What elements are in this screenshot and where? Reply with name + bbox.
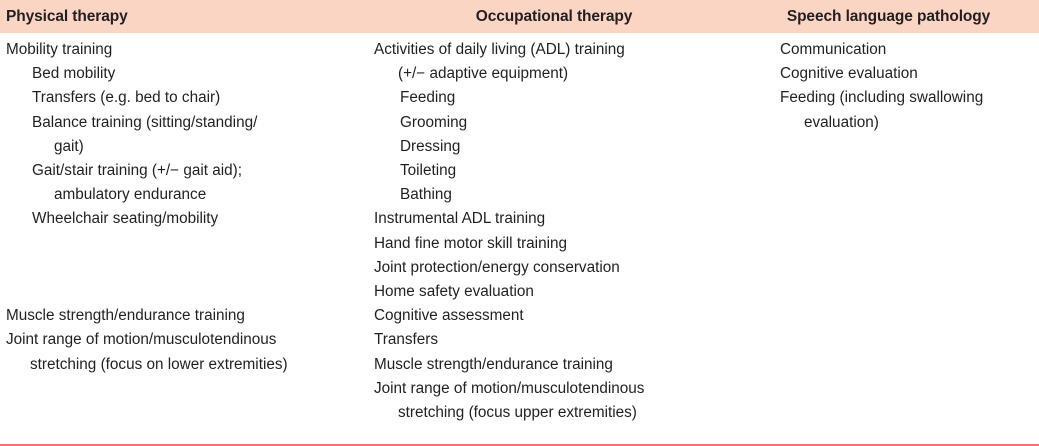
list-item: Cognitive assessment <box>374 304 738 328</box>
column-body-physical-therapy: Mobility training Bed mobility Transfers… <box>0 33 370 441</box>
list-item-continuation: (+/− adaptive equipment) <box>398 62 738 86</box>
list-item: Activities of daily living (ADL) trainin… <box>374 38 738 62</box>
pt-primary-list: Mobility training Bed mobility Transfers… <box>6 38 370 232</box>
list-item: Grooming <box>400 111 738 135</box>
list-item: Toileting <box>400 159 738 183</box>
list-item: Muscle strength/endurance training <box>6 304 370 328</box>
list-item: Joint range of motion/musculotendinous <box>374 377 738 401</box>
list-item: Dressing <box>400 135 738 159</box>
list-item-continuation: stretching (focus upper extremities) <box>398 401 738 425</box>
list-item: Feeding <box>400 86 738 110</box>
list-item-continuation: ambulatory endurance <box>54 183 370 207</box>
pt-footer-list: Muscle strength/endurance training Joint… <box>6 304 370 377</box>
therapy-disciplines-table: Physical therapy Occupational therapy Sp… <box>0 0 1039 446</box>
list-item: Wheelchair seating/mobility <box>32 207 370 231</box>
slp-primary-list: Communication Cognitive evaluation Feedi… <box>780 38 1039 135</box>
column-header-occupational-therapy: Occupational therapy <box>370 8 738 26</box>
list-item: Joint protection/energy conservation <box>374 256 738 280</box>
list-item: Mobility training <box>6 38 370 62</box>
ot-footer-list: Muscle strength/endurance training Joint… <box>374 353 738 426</box>
list-item: Bed mobility <box>32 62 370 86</box>
ot-primary-list: Activities of daily living (ADL) trainin… <box>374 38 738 353</box>
list-item: Joint range of motion/musculotendinous <box>6 328 370 352</box>
column-header-speech-language-pathology: Speech language pathology <box>738 8 1039 26</box>
list-item: Feeding (including swallowing <box>780 86 1039 110</box>
list-item: Muscle strength/endurance training <box>374 353 738 377</box>
list-item-continuation: evaluation) <box>804 111 1039 135</box>
list-item-continuation: stretching (focus on lower extremities) <box>30 353 370 377</box>
list-item: Home safety evaluation <box>374 280 738 304</box>
list-item: Gait/stair training (+/− gait aid); <box>32 159 370 183</box>
column-body-speech-language-pathology: Communication Cognitive evaluation Feedi… <box>738 33 1039 441</box>
list-item: Instrumental ADL training <box>374 207 738 231</box>
table-body-row: Mobility training Bed mobility Transfers… <box>0 33 1039 441</box>
list-item: Transfers (e.g. bed to chair) <box>32 86 370 110</box>
list-item: Hand fine motor skill training <box>374 232 738 256</box>
list-item: Transfers <box>374 328 738 352</box>
list-item-continuation: gait) <box>54 135 370 159</box>
list-item: Balance training (sitting/standing/ <box>32 111 370 135</box>
column-header-physical-therapy: Physical therapy <box>0 8 370 26</box>
table-header-row: Physical therapy Occupational therapy Sp… <box>0 0 1039 33</box>
list-item: Bathing <box>400 183 738 207</box>
list-item: Cognitive evaluation <box>780 62 1039 86</box>
list-item: Communication <box>780 38 1039 62</box>
column-body-occupational-therapy: Activities of daily living (ADL) trainin… <box>370 33 738 441</box>
